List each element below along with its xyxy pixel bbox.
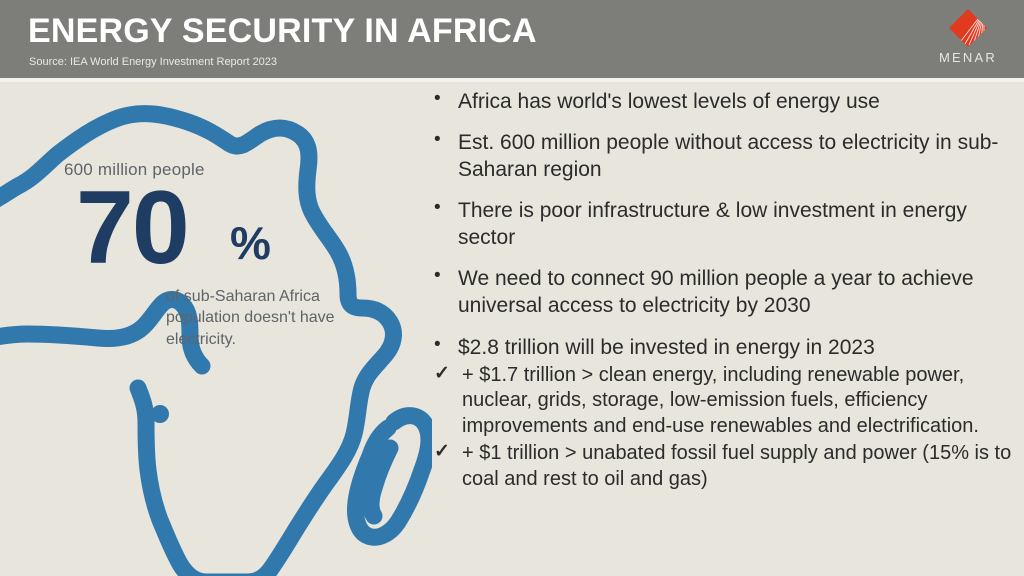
sub-bullet-item: + $1 trillion > unabated fossil fuel sup… [426,441,1022,493]
stat-unit: % [230,220,271,266]
bullet-item: There is poor infrastructure & low inves… [426,197,1022,251]
stat-description: of sub-Saharan Africa population doesn't… [166,286,356,350]
menar-diamond-icon [948,8,988,48]
menar-logo: MENAR [930,8,1006,70]
bullet-item: $2.8 trillion will be invested in energy… [426,334,1022,361]
bullet-list: Africa has world's lowest levels of ener… [426,88,1022,494]
source-citation: Source: IEA World Energy Investment Repo… [29,56,277,68]
sub-bullet-list: + $1.7 trillion > clean energy, includin… [426,363,1022,493]
presentation-slide: ENERGY SECURITY IN AFRICA Source: IEA Wo… [0,0,1024,576]
bullet-item: Est. 600 million people without access t… [426,129,1022,183]
bullet-item: We need to connect 90 million people a y… [426,265,1022,319]
statistic-block: 600 million people 70 % of sub-Saharan A… [56,160,356,350]
sub-bullet-item: + $1.7 trillion > clean energy, includin… [426,363,1022,440]
stat-value: 70 [76,176,188,280]
stat-value-row: 70 % [62,182,356,286]
page-title: ENERGY SECURITY IN AFRICA [28,14,537,50]
bullet-item: Africa has world's lowest levels of ener… [426,88,1022,115]
menar-logo-text: MENAR [930,50,1006,65]
